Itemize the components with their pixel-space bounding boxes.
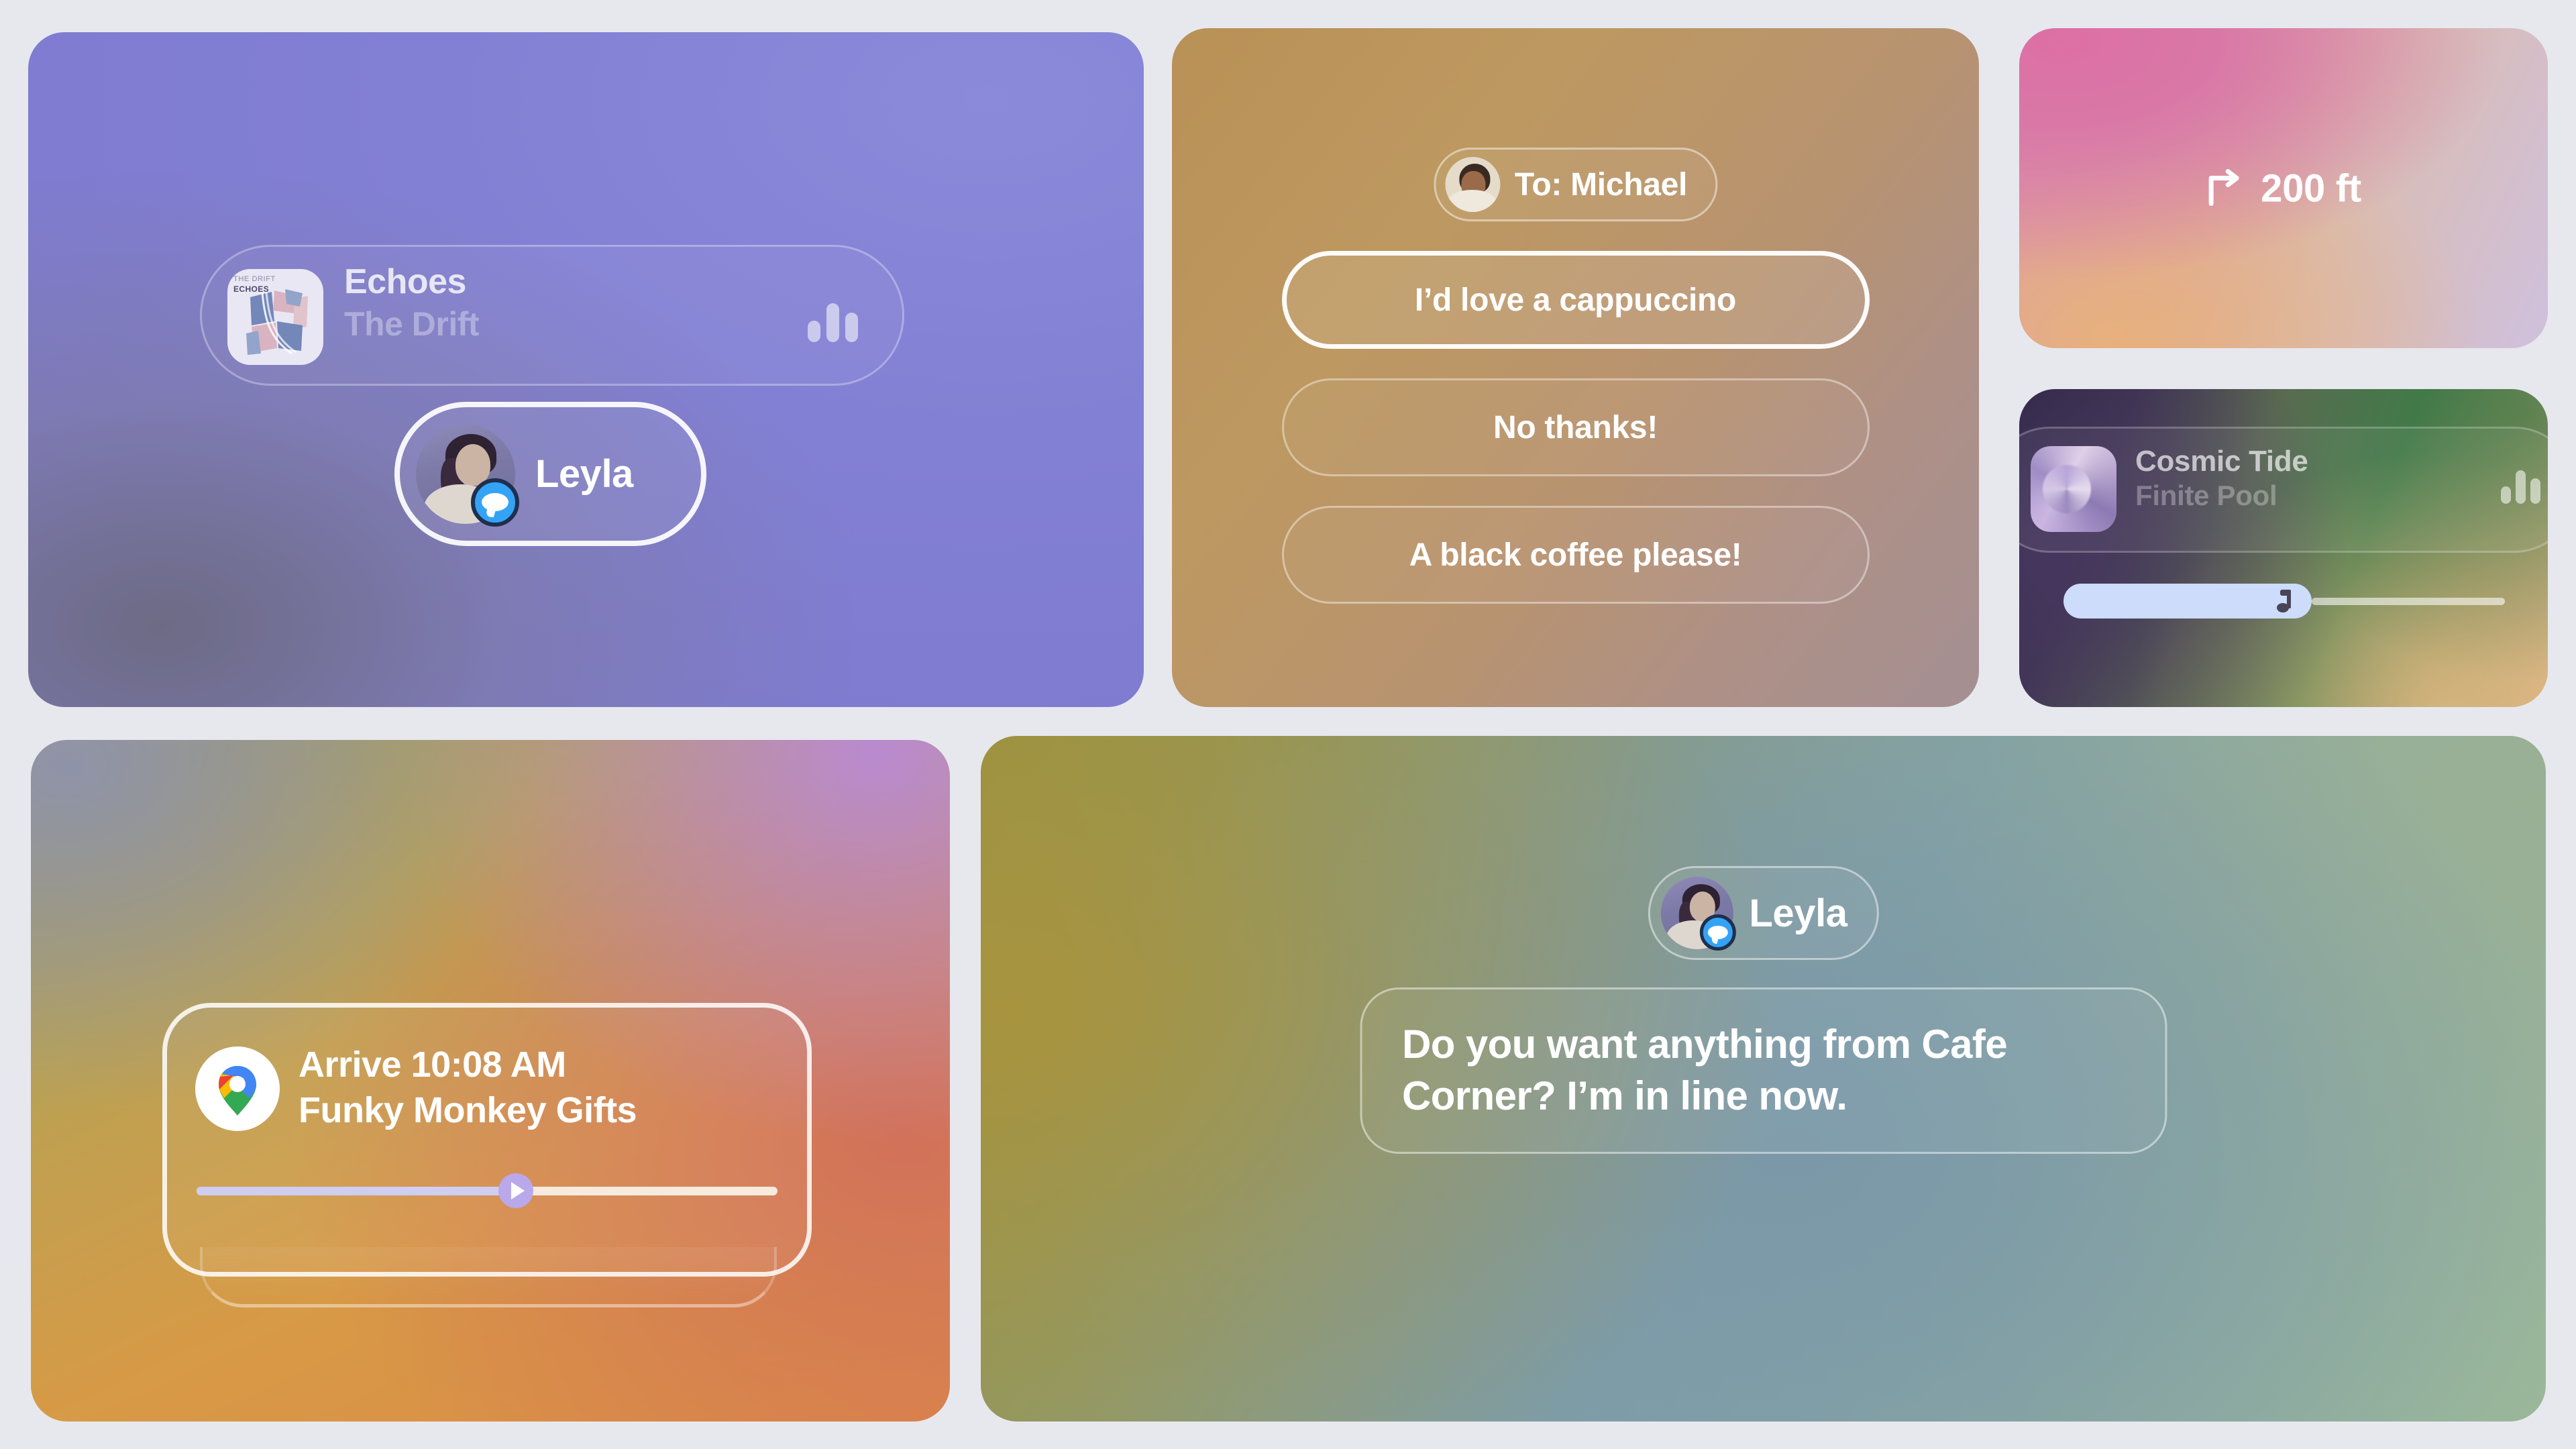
google-maps-pin-icon [195, 1046, 280, 1131]
nav-distance-label: 200 ft [2261, 166, 2361, 211]
widget-gallery: THE DRIFT ECHOES [0, 0, 2576, 1449]
card-nav-distance[interactable]: 200 ft [2019, 28, 2548, 348]
card-music-cosmic[interactable]: Cosmic Tide Finite Pool [2019, 389, 2548, 707]
destination-label: Funky Monkey Gifts [299, 1089, 637, 1131]
avatar-michael [1445, 157, 1500, 212]
track-title: Echoes [344, 262, 479, 302]
reply-option-1[interactable]: No thanks! [1282, 378, 1870, 476]
equalizer-bars-icon [2501, 470, 2540, 504]
reply-option-1-label: No thanks! [1493, 409, 1658, 446]
arrival-time-label: Arrive 10:08 AM [299, 1044, 637, 1085]
avatar-leyla [416, 425, 515, 524]
contact-pill-leyla[interactable]: Leyla [394, 402, 706, 546]
volume-slider[interactable] [2019, 584, 2548, 619]
nav-distance-row: 200 ft [2206, 166, 2361, 211]
album-art-label-bottom: ECHOES [233, 284, 276, 294]
navigation-arrow-icon[interactable] [498, 1173, 533, 1208]
reply-option-2[interactable]: A black coffee please! [1282, 506, 1870, 604]
card-message[interactable]: Leyla Do you want anything from Cafe Cor… [981, 736, 2546, 1421]
music-note-icon [2277, 590, 2294, 612]
recipient-pill[interactable]: To: Michael [1434, 148, 1717, 221]
progress-fill [197, 1187, 516, 1195]
volume-track [2312, 598, 2505, 605]
now-playing-bar-cosmic[interactable]: Cosmic Tide Finite Pool [2019, 427, 2548, 553]
track-title: Cosmic Tide [2135, 445, 2308, 478]
cosmic-meta: Cosmic Tide Finite Pool [2135, 445, 2308, 512]
now-playing-bar[interactable]: THE DRIFT ECHOES [200, 245, 904, 386]
nav-arrive-panel[interactable]: Arrive 10:08 AM Funky Monkey Gifts [162, 1003, 812, 1277]
nav-arrive-text: Arrive 10:08 AM Funky Monkey Gifts [299, 1044, 637, 1131]
volume-fill[interactable] [2063, 584, 2312, 619]
equalizer-bars-icon [808, 303, 858, 342]
avatar-leyla [1660, 877, 1733, 949]
card-smart-replies[interactable]: To: Michael I’d love a cappuccino No tha… [1172, 28, 1979, 707]
now-playing-meta: Echoes The Drift [344, 262, 479, 343]
reply-option-0[interactable]: I’d love a cappuccino [1282, 251, 1870, 349]
messages-app-badge-icon [471, 478, 519, 527]
reply-option-0-label: I’d love a cappuccino [1415, 282, 1736, 319]
route-progress-bar[interactable] [197, 1183, 777, 1198]
card-music-echoes[interactable]: THE DRIFT ECHOES [28, 32, 1144, 707]
track-artist: Finite Pool [2135, 480, 2308, 512]
sender-name: Leyla [1749, 891, 1847, 936]
turn-right-icon [2206, 169, 2245, 208]
message-bubble[interactable]: Do you want anything from Cafe Corner? I… [1360, 987, 2167, 1154]
message-body: Do you want anything from Cafe Corner? I… [1402, 1019, 2125, 1122]
sender-pill[interactable]: Leyla [1648, 866, 1878, 960]
messages-app-badge-icon [1699, 914, 1735, 951]
track-artist: The Drift [344, 305, 479, 343]
album-art-echoes: THE DRIFT ECHOES [227, 269, 323, 365]
reply-option-2-label: A black coffee please! [1409, 537, 1742, 574]
card-nav-arrive[interactable]: Arrive 10:08 AM Funky Monkey Gifts 8:32 [31, 740, 950, 1421]
album-art-swirl [2031, 446, 2116, 532]
contact-name: Leyla [535, 451, 633, 496]
recipient-label: To: Michael [1515, 166, 1687, 203]
album-art-label-top: THE DRIFT [233, 275, 276, 283]
